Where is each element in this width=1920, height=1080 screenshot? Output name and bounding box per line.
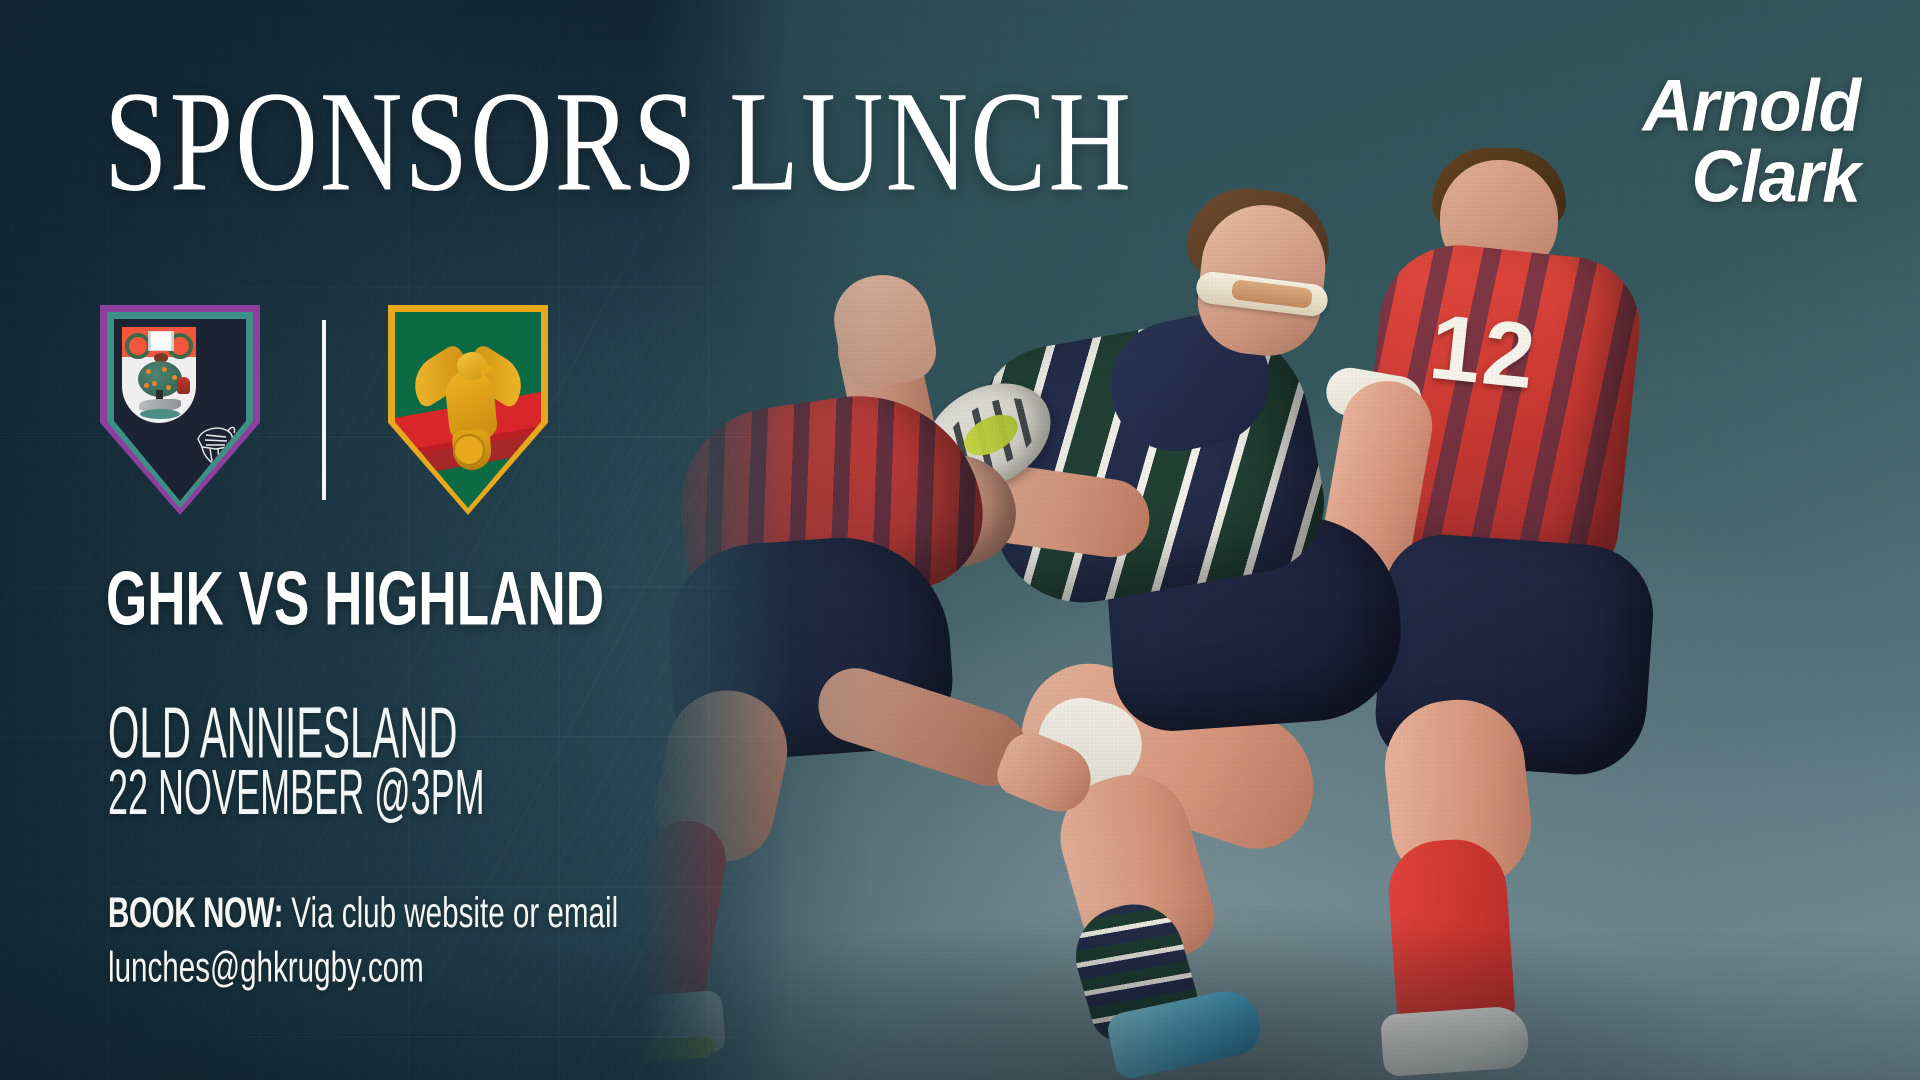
poster-canvas: 12 — [0, 0, 1920, 1080]
highland-crest — [388, 305, 548, 515]
water-base — [140, 409, 180, 419]
booking-label: BOOK NOW: — [108, 888, 283, 936]
crest-divider — [322, 320, 326, 500]
open-book-icon — [148, 331, 174, 351]
glasgow-arms-roundel — [122, 327, 196, 423]
highland-crest-field — [395, 312, 541, 508]
ghk-crest — [100, 305, 260, 515]
datetime-text: 22 NOVEMBER @3PM — [108, 755, 485, 829]
eagle-beak — [481, 362, 495, 376]
match-title: GHK VS HIGHLAND — [106, 555, 604, 642]
club-crests — [100, 305, 548, 515]
bell-icon — [177, 377, 190, 394]
ghk-crest-shield — [100, 305, 260, 515]
arnold-clark-logo: Arnold Clark — [1666, 78, 1860, 206]
highland-crest-shield — [388, 305, 548, 515]
booking-instruction: Via club website or email — [283, 888, 618, 936]
page-title: SPONSORS LUNCH — [104, 70, 1133, 214]
booking-email[interactable]: lunches@ghkrugby.com — [108, 940, 716, 995]
sponsor-name-line2: Clark — [1643, 144, 1860, 211]
ghk-crest-sash — [242, 319, 246, 501]
ghk-crest-field — [114, 319, 246, 501]
booking-info: BOOK NOW: Via club website or email lunc… — [108, 885, 716, 995]
sponsor-name-line1: Arnold — [1643, 73, 1860, 140]
highland-roundel — [453, 434, 485, 466]
